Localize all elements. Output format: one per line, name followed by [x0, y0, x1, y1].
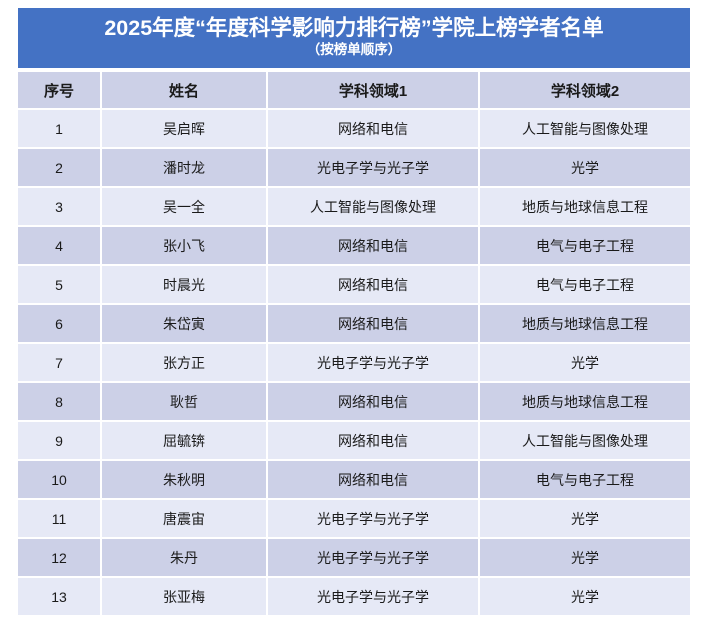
cell-name: 朱丹 [102, 539, 268, 578]
table-row: 11唐震宙光电子学与光子学光学 [18, 500, 690, 539]
cell-field2: 光学 [480, 539, 690, 578]
table-row: 5时晨光网络和电信电气与电子工程 [18, 266, 690, 305]
table-row: 1吴启晖网络和电信人工智能与图像处理 [18, 110, 690, 149]
cell-field1: 网络和电信 [268, 422, 480, 461]
cell-field2: 电气与电子工程 [480, 461, 690, 500]
cell-name: 朱秋明 [102, 461, 268, 500]
cell-field1: 网络和电信 [268, 305, 480, 344]
cell-field1: 光电子学与光子学 [268, 149, 480, 188]
page-title: 2025年度“年度科学影响力排行榜”学院上榜学者名单 [104, 17, 603, 40]
cell-field2: 光学 [480, 344, 690, 383]
table-row: 8耿哲网络和电信地质与地球信息工程 [18, 383, 690, 422]
cell-name: 张方正 [102, 344, 268, 383]
table-row: 2潘时龙光电子学与光子学光学 [18, 149, 690, 188]
cell-name: 吴一全 [102, 188, 268, 227]
cell-name: 时晨光 [102, 266, 268, 305]
table-row: 9屈毓锛网络和电信人工智能与图像处理 [18, 422, 690, 461]
cell-field1: 光电子学与光子学 [268, 500, 480, 539]
table-row: 7张方正光电子学与光子学光学 [18, 344, 690, 383]
table-header-row: 序号 姓名 学科领域1 学科领域2 [18, 72, 690, 110]
cell-name: 唐震宙 [102, 500, 268, 539]
table-header: 序号 姓名 学科领域1 学科领域2 [18, 72, 690, 110]
cell-name: 吴启晖 [102, 110, 268, 149]
scholar-roster-table: 序号 姓名 学科领域1 学科领域2 1吴启晖网络和电信人工智能与图像处理2潘时龙… [18, 72, 690, 617]
cell-index: 10 [18, 461, 102, 500]
cell-index: 7 [18, 344, 102, 383]
cell-index: 5 [18, 266, 102, 305]
column-header-field1: 学科领域1 [268, 72, 480, 110]
cell-field2: 电气与电子工程 [480, 266, 690, 305]
cell-field2: 人工智能与图像处理 [480, 422, 690, 461]
cell-field2: 光学 [480, 500, 690, 539]
cell-field2: 地质与地球信息工程 [480, 188, 690, 227]
cell-index: 11 [18, 500, 102, 539]
cell-field1: 网络和电信 [268, 383, 480, 422]
cell-field1: 光电子学与光子学 [268, 578, 480, 617]
cell-field1: 网络和电信 [268, 266, 480, 305]
cell-name: 张小飞 [102, 227, 268, 266]
cell-index: 4 [18, 227, 102, 266]
column-header-name: 姓名 [102, 72, 268, 110]
cell-field1: 光电子学与光子学 [268, 539, 480, 578]
cell-index: 2 [18, 149, 102, 188]
cell-field1: 网络和电信 [268, 461, 480, 500]
cell-field2: 人工智能与图像处理 [480, 110, 690, 149]
cell-field1: 光电子学与光子学 [268, 344, 480, 383]
cell-index: 1 [18, 110, 102, 149]
table-row: 4张小飞网络和电信电气与电子工程 [18, 227, 690, 266]
page-root: 2025年度“年度科学影响力排行榜”学院上榜学者名单 （按榜单顺序） 序号 姓名… [0, 0, 702, 640]
cell-field1: 人工智能与图像处理 [268, 188, 480, 227]
table-row: 10朱秋明网络和电信电气与电子工程 [18, 461, 690, 500]
cell-name: 耿哲 [102, 383, 268, 422]
cell-name: 潘时龙 [102, 149, 268, 188]
cell-field2: 电气与电子工程 [480, 227, 690, 266]
column-header-field2: 学科领域2 [480, 72, 690, 110]
cell-name: 张亚梅 [102, 578, 268, 617]
cell-name: 屈毓锛 [102, 422, 268, 461]
cell-name: 朱岱寅 [102, 305, 268, 344]
cell-index: 8 [18, 383, 102, 422]
cell-field2: 地质与地球信息工程 [480, 305, 690, 344]
cell-field1: 网络和电信 [268, 110, 480, 149]
table-body: 1吴启晖网络和电信人工智能与图像处理2潘时龙光电子学与光子学光学3吴一全人工智能… [18, 110, 690, 617]
table-row: 6朱岱寅网络和电信地质与地球信息工程 [18, 305, 690, 344]
cell-field2: 光学 [480, 149, 690, 188]
cell-index: 6 [18, 305, 102, 344]
table-row: 13张亚梅光电子学与光子学光学 [18, 578, 690, 617]
table-row: 3吴一全人工智能与图像处理地质与地球信息工程 [18, 188, 690, 227]
cell-index: 12 [18, 539, 102, 578]
title-banner: 2025年度“年度科学影响力排行榜”学院上榜学者名单 （按榜单顺序） [18, 8, 690, 68]
column-header-index: 序号 [18, 72, 102, 110]
cell-index: 3 [18, 188, 102, 227]
table-row: 12朱丹光电子学与光子学光学 [18, 539, 690, 578]
page-subtitle: （按榜单顺序） [307, 42, 402, 59]
cell-field2: 地质与地球信息工程 [480, 383, 690, 422]
cell-index: 9 [18, 422, 102, 461]
cell-field1: 网络和电信 [268, 227, 480, 266]
cell-field2: 光学 [480, 578, 690, 617]
cell-index: 13 [18, 578, 102, 617]
